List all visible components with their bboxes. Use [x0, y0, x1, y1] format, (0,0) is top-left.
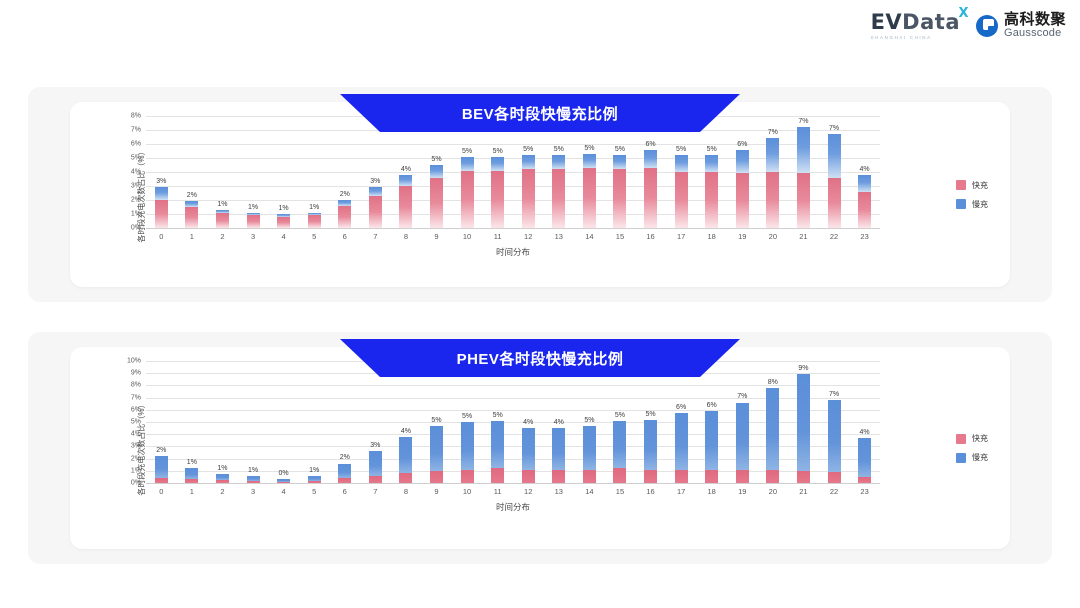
bar-value-label: 5% [584, 417, 594, 424]
stacked-bar[interactable]: 2% [155, 456, 168, 483]
bar-segment-slow-charge [705, 411, 718, 470]
bar-segment-fast-charge [613, 468, 626, 483]
bar-column[interactable]: 6% [635, 116, 666, 228]
bar-segment-slow-charge [858, 175, 871, 192]
stacked-bar[interactable]: 2% [185, 201, 198, 228]
y-axis-tick: 9% [131, 370, 141, 377]
x-axis-tick: 17 [666, 229, 697, 245]
bar-value-label: 5% [554, 146, 564, 153]
bar-segment-fast-charge [338, 206, 351, 228]
x-axis-tick: 0 [146, 229, 177, 245]
bar-segment-fast-charge [797, 173, 810, 228]
bar-value-label: 5% [431, 156, 441, 163]
stacked-bar[interactable]: 5% [430, 426, 443, 483]
bar-column[interactable]: 1% [299, 361, 330, 483]
bar-segment-fast-charge [736, 173, 749, 228]
x-axis-tick: 7 [360, 484, 391, 500]
x-axis-tick: 1 [177, 229, 208, 245]
x-axis-tick: 5 [299, 229, 330, 245]
bar-value-label: 9% [798, 365, 808, 372]
bev-x-axis-label: 时间分布 [146, 246, 880, 258]
bar-segment-slow-charge [399, 437, 412, 474]
bar-segment-fast-charge [461, 171, 474, 228]
stacked-bar[interactable]: 2% [338, 463, 351, 483]
bar-value-label: 7% [768, 129, 778, 136]
y-axis-tick: 1% [131, 211, 141, 218]
y-axis-tick: 7% [131, 127, 141, 134]
bar-segment-fast-charge [675, 172, 688, 228]
y-axis-tick: 10% [127, 358, 141, 365]
gausscode-text: 高科数聚 Gausscode [1004, 12, 1066, 39]
bar-column[interactable]: 1% [238, 116, 269, 228]
bar-column[interactable]: 1% [207, 116, 238, 228]
bar-segment-slow-charge [430, 165, 443, 178]
stacked-bar[interactable]: 5% [675, 155, 688, 228]
bar-segment-fast-charge [675, 470, 688, 483]
x-axis-tick: 20 [758, 484, 789, 500]
phev-x-axis-label: 时间分布 [146, 501, 880, 513]
bar-column[interactable]: 3% [146, 116, 177, 228]
x-axis-tick: 13 [544, 484, 575, 500]
gausscode-en-name: Gausscode [1004, 28, 1066, 40]
bar-column[interactable]: 7% [788, 116, 819, 228]
phev-x-axis: 01234567891011121314151617181920212223 [146, 483, 880, 500]
bar-column[interactable]: 2% [329, 116, 360, 228]
bar-column[interactable]: 5% [605, 361, 636, 483]
x-axis-tick: 21 [788, 229, 819, 245]
bar-segment-slow-charge [613, 155, 626, 169]
stacked-bar[interactable]: 5% [491, 421, 504, 483]
bar-segment-slow-charge [430, 426, 443, 471]
stacked-bar[interactable]: 6% [644, 150, 657, 228]
bar-segment-fast-charge [430, 178, 443, 228]
slow-charge-swatch-icon [956, 199, 966, 209]
bar-segment-fast-charge [247, 215, 260, 228]
bar-column[interactable]: 2% [146, 361, 177, 483]
bar-value-label: 5% [676, 146, 686, 153]
slow-charge-swatch-icon [956, 453, 966, 463]
bev-x-axis: 01234567891011121314151617181920212223 [146, 228, 880, 245]
bar-column[interactable]: 2% [329, 361, 360, 483]
stacked-bar[interactable]: 7% [797, 127, 810, 228]
phev-card: PHEV各时段快慢充比例 各时段充电次数占比（%） 0%1%2%3%4%5%6%… [70, 347, 1010, 549]
bar-value-label: 6% [645, 141, 655, 148]
bar-segment-fast-charge [766, 470, 779, 483]
bev-title-text: BEV各时段快慢充比例 [462, 103, 618, 124]
stacked-bar[interactable]: 6% [675, 413, 688, 483]
x-axis-tick: 2 [207, 229, 238, 245]
phev-panel: PHEV各时段快慢充比例 各时段充电次数占比（%） 0%1%2%3%4%5%6%… [28, 332, 1052, 564]
stacked-bar[interactable]: 4% [552, 428, 565, 483]
x-axis-tick: 11 [482, 484, 513, 500]
stacked-bar[interactable]: 1% [247, 213, 260, 228]
bar-column[interactable]: 6% [696, 361, 727, 483]
stacked-bar[interactable]: 4% [399, 437, 412, 483]
x-axis-tick: 8 [391, 484, 422, 500]
bar-segment-fast-charge [369, 196, 382, 228]
bev-bars: 3%2%1%1%1%1%2%3%4%5%5%5%5%5%5%5%6%5%5%6%… [146, 116, 880, 228]
bar-segment-slow-charge [613, 421, 626, 469]
x-axis-tick: 16 [635, 229, 666, 245]
bev-legend-slow-label: 慢充 [972, 199, 988, 210]
bar-column[interactable]: 4% [849, 361, 880, 483]
stacked-bar[interactable]: 4% [858, 438, 871, 483]
stacked-bar[interactable]: 5% [430, 165, 443, 228]
x-axis-tick: 0 [146, 484, 177, 500]
bar-segment-fast-charge [613, 169, 626, 228]
gausscode-cn-name: 高科数聚 [1004, 12, 1066, 28]
bar-segment-fast-charge [461, 470, 474, 483]
bar-segment-slow-charge [766, 138, 779, 172]
bar-value-label: 7% [829, 391, 839, 398]
bar-value-label: 8% [768, 379, 778, 386]
bar-segment-slow-charge [552, 428, 565, 469]
bar-segment-slow-charge [552, 155, 565, 169]
bar-segment-fast-charge [369, 476, 382, 483]
bar-column[interactable]: 1% [207, 361, 238, 483]
bar-value-label: 5% [493, 148, 503, 155]
x-axis-tick: 23 [849, 484, 880, 500]
evdata-x-icon: X [958, 7, 969, 20]
bev-legend-item-slow: 慢充 [956, 199, 988, 210]
stacked-bar[interactable]: 6% [736, 150, 749, 228]
bar-segment-slow-charge [522, 428, 535, 469]
x-axis-tick: 1 [177, 484, 208, 500]
y-axis-tick: 8% [131, 382, 141, 389]
bar-value-label: 5% [615, 146, 625, 153]
bar-value-label: 3% [370, 178, 380, 185]
bar-segment-slow-charge [338, 464, 351, 479]
bar-value-label: 1% [248, 204, 258, 211]
bar-segment-slow-charge [399, 175, 412, 186]
bar-segment-fast-charge [797, 471, 810, 483]
bev-title-banner: BEV各时段快慢充比例 [340, 94, 740, 132]
bar-segment-slow-charge [155, 187, 168, 200]
evdata-data-text: Data [902, 10, 960, 34]
x-axis-tick: 4 [268, 484, 299, 500]
bev-plot-area: 0%1%2%3%4%5%6%7%8% 3%2%1%1%1%1%2%3%4%5%5… [146, 116, 880, 228]
x-axis-tick: 18 [696, 484, 727, 500]
bar-column[interactable]: 1% [177, 361, 208, 483]
fast-charge-swatch-icon [956, 180, 966, 190]
stacked-bar[interactable]: 5% [461, 157, 474, 228]
bar-segment-slow-charge [797, 374, 810, 470]
bar-segment-fast-charge [430, 471, 443, 483]
bar-value-label: 2% [156, 447, 166, 454]
bar-column[interactable]: 5% [482, 361, 513, 483]
bar-column[interactable]: 5% [574, 116, 605, 228]
bar-segment-fast-charge [583, 168, 596, 228]
bar-segment-fast-charge [828, 472, 841, 483]
bar-segment-slow-charge [369, 451, 382, 475]
bar-segment-fast-charge [216, 213, 229, 228]
phev-legend-item-fast: 快充 [956, 433, 988, 444]
bar-segment-slow-charge [461, 422, 474, 470]
bar-segment-slow-charge [675, 413, 688, 469]
bar-value-label: 3% [370, 442, 380, 449]
bar-segment-fast-charge [705, 172, 718, 228]
bar-column[interactable]: 5% [452, 116, 483, 228]
bar-segment-fast-charge [552, 169, 565, 228]
bar-value-label: 5% [431, 417, 441, 424]
x-axis-tick: 11 [482, 229, 513, 245]
bar-segment-slow-charge [491, 157, 504, 171]
bar-column[interactable]: 8% [758, 361, 789, 483]
bar-value-label: 1% [309, 204, 319, 211]
stacked-bar[interactable]: 7% [766, 138, 779, 228]
bar-value-label: 4% [860, 429, 870, 436]
y-axis-tick: 0% [131, 480, 141, 487]
stacked-bar[interactable]: 1% [277, 214, 290, 228]
phev-legend: 快充 慢充 [956, 433, 988, 463]
bar-column[interactable]: 1% [299, 116, 330, 228]
x-axis-tick: 10 [452, 484, 483, 500]
bar-column[interactable]: 0% [268, 361, 299, 483]
gausscode-logo: 高科数聚 Gausscode [976, 12, 1066, 39]
evdata-logo: EVData X SHANGHAI CHINA [871, 12, 960, 40]
bar-value-label: 5% [523, 146, 533, 153]
bar-column[interactable]: 5% [421, 116, 452, 228]
x-axis-tick: 9 [421, 229, 452, 245]
stacked-bar[interactable]: 1% [308, 213, 321, 228]
bar-column[interactable]: 5% [421, 361, 452, 483]
y-axis-tick: 2% [131, 455, 141, 462]
bar-value-label: 7% [798, 118, 808, 125]
bar-value-label: 1% [279, 205, 289, 212]
stacked-bar[interactable]: 1% [216, 474, 229, 483]
bar-column[interactable]: 7% [819, 116, 850, 228]
bar-segment-fast-charge [185, 207, 198, 228]
phev-bars: 2%1%1%1%0%1%2%3%4%5%5%5%4%4%5%5%5%6%6%7%… [146, 361, 880, 483]
logo-group: EVData X SHANGHAI CHINA 高科数聚 Gausscode [871, 12, 1066, 40]
bev-card: BEV各时段快慢充比例 各时段充电次数占比（%） 0%1%2%3%4%5%6%7… [70, 102, 1010, 287]
stacked-bar[interactable]: 5% [644, 420, 657, 483]
bar-segment-fast-charge [399, 186, 412, 228]
bar-column[interactable]: 5% [605, 116, 636, 228]
y-axis-tick: 8% [131, 113, 141, 120]
bar-segment-fast-charge [491, 171, 504, 228]
bar-value-label: 6% [676, 404, 686, 411]
bar-segment-fast-charge [644, 470, 657, 483]
stacked-bar[interactable]: 7% [828, 400, 841, 483]
bar-segment-slow-charge [644, 150, 657, 168]
x-axis-tick: 19 [727, 484, 758, 500]
x-axis-tick: 2 [207, 484, 238, 500]
bar-segment-fast-charge [491, 468, 504, 483]
bar-segment-slow-charge [797, 127, 810, 173]
stacked-bar[interactable]: 3% [155, 187, 168, 228]
bar-value-label: 7% [737, 393, 747, 400]
bar-value-label: 5% [645, 411, 655, 418]
stacked-bar[interactable]: 3% [369, 187, 382, 228]
bar-segment-fast-charge [736, 470, 749, 483]
x-axis-tick: 6 [329, 229, 360, 245]
stacked-bar[interactable]: 5% [461, 422, 474, 483]
phev-title-text: PHEV各时段快慢充比例 [457, 348, 624, 369]
x-axis-tick: 15 [605, 484, 636, 500]
bar-segment-slow-charge [828, 400, 841, 472]
stacked-bar[interactable]: 1% [185, 468, 198, 483]
bar-column[interactable]: 2% [177, 116, 208, 228]
evdata-ev-text: EV [871, 10, 903, 34]
bar-value-label: 1% [187, 459, 197, 466]
bev-legend: 快充 慢充 [956, 180, 988, 210]
bar-value-label: 1% [217, 201, 227, 208]
bar-segment-slow-charge [705, 155, 718, 172]
bar-value-label: 5% [462, 148, 472, 155]
bar-segment-fast-charge [552, 470, 565, 483]
bar-column[interactable]: 4% [391, 361, 422, 483]
bar-value-label: 5% [615, 412, 625, 419]
bar-value-label: 2% [187, 192, 197, 199]
bar-segment-slow-charge [369, 187, 382, 195]
stacked-bar[interactable]: 2% [338, 200, 351, 228]
x-axis-tick: 12 [513, 229, 544, 245]
bar-column[interactable]: 5% [666, 116, 697, 228]
phev-legend-item-slow: 慢充 [956, 452, 988, 463]
bar-column[interactable]: 5% [696, 116, 727, 228]
bar-segment-fast-charge [705, 470, 718, 483]
x-axis-tick: 23 [849, 229, 880, 245]
bar-segment-slow-charge [583, 154, 596, 168]
bar-segment-slow-charge [583, 426, 596, 470]
bar-value-label: 5% [707, 146, 717, 153]
stacked-bar[interactable]: 7% [828, 134, 841, 228]
bar-value-label: 0% [279, 470, 289, 477]
bar-segment-fast-charge [644, 168, 657, 228]
bar-value-label: 6% [707, 402, 717, 409]
stacked-bar[interactable]: 1% [216, 210, 229, 228]
stacked-bar[interactable]: 5% [491, 157, 504, 228]
x-axis-tick: 21 [788, 484, 819, 500]
bar-column[interactable]: 5% [544, 116, 575, 228]
stacked-bar[interactable]: 5% [522, 155, 535, 228]
x-axis-tick: 7 [360, 229, 391, 245]
x-axis-tick: 14 [574, 484, 605, 500]
x-axis-tick: 9 [421, 484, 452, 500]
stacked-bar[interactable]: 4% [858, 175, 871, 228]
bar-column[interactable]: 1% [238, 361, 269, 483]
bar-segment-fast-charge [766, 172, 779, 228]
x-axis-tick: 6 [329, 484, 360, 500]
x-axis-tick: 3 [238, 484, 269, 500]
bar-column[interactable]: 6% [666, 361, 697, 483]
bar-segment-slow-charge [155, 456, 168, 478]
stacked-bar[interactable]: 5% [613, 155, 626, 228]
bar-segment-slow-charge [736, 150, 749, 174]
y-axis-tick: 5% [131, 155, 141, 162]
bar-segment-fast-charge [522, 470, 535, 483]
stacked-bar[interactable]: 5% [583, 426, 596, 483]
x-axis-tick: 17 [666, 484, 697, 500]
x-axis-tick: 8 [391, 229, 422, 245]
bar-column[interactable]: 7% [819, 361, 850, 483]
bar-segment-fast-charge [522, 169, 535, 228]
phev-plot-area: 0%1%2%3%4%5%6%7%8%9%10% 2%1%1%1%0%1%2%3%… [146, 361, 880, 483]
phev-title-banner: PHEV各时段快慢充比例 [340, 339, 740, 377]
stacked-bar[interactable]: 4% [399, 175, 412, 228]
stacked-bar[interactable]: 6% [705, 411, 718, 483]
bar-value-label: 1% [217, 465, 227, 472]
bar-value-label: 3% [156, 178, 166, 185]
bar-column[interactable]: 5% [452, 361, 483, 483]
evdata-tagline: SHANGHAI CHINA [871, 35, 932, 40]
bar-column[interactable]: 4% [391, 116, 422, 228]
bar-value-label: 4% [860, 166, 870, 173]
bar-column[interactable]: 5% [482, 116, 513, 228]
x-axis-tick: 22 [819, 484, 850, 500]
bar-value-label: 1% [248, 467, 258, 474]
bar-column[interactable]: 6% [727, 116, 758, 228]
stacked-bar[interactable]: 1% [308, 476, 321, 483]
stacked-bar[interactable]: 3% [369, 451, 382, 483]
bar-segment-slow-charge [461, 157, 474, 171]
bar-column[interactable]: 5% [513, 116, 544, 228]
bar-segment-fast-charge [399, 473, 412, 483]
stacked-bar[interactable]: 5% [613, 421, 626, 483]
bar-value-label: 4% [554, 419, 564, 426]
bar-value-label: 4% [523, 419, 533, 426]
bar-column[interactable]: 7% [758, 116, 789, 228]
bar-segment-fast-charge [828, 178, 841, 228]
x-axis-tick: 12 [513, 484, 544, 500]
y-axis-tick: 5% [131, 419, 141, 426]
x-axis-tick: 3 [238, 229, 269, 245]
stacked-bar[interactable]: 4% [522, 428, 535, 483]
bar-column[interactable]: 4% [849, 116, 880, 228]
bar-segment-fast-charge [308, 215, 321, 228]
bar-column[interactable]: 7% [727, 361, 758, 483]
bev-panel: BEV各时段快慢充比例 各时段充电次数占比（%） 0%1%2%3%4%5%6%7… [28, 87, 1052, 302]
stacked-bar[interactable]: 9% [797, 374, 810, 483]
bar-segment-slow-charge [644, 420, 657, 470]
y-axis-tick: 1% [131, 467, 141, 474]
stacked-bar[interactable]: 1% [247, 476, 260, 483]
bar-column[interactable]: 4% [544, 361, 575, 483]
bev-legend-fast-label: 快充 [972, 180, 988, 191]
x-axis-tick: 22 [819, 229, 850, 245]
y-axis-tick: 4% [131, 431, 141, 438]
evdata-wordmark: EVData X [871, 12, 960, 33]
bar-segment-slow-charge [736, 403, 749, 470]
bar-value-label: 5% [584, 145, 594, 152]
stacked-bar[interactable]: 5% [705, 155, 718, 228]
x-axis-tick: 20 [758, 229, 789, 245]
bar-value-label: 2% [340, 454, 350, 461]
bar-segment-slow-charge [675, 155, 688, 172]
phev-legend-slow-label: 慢充 [972, 452, 988, 463]
y-axis-tick: 4% [131, 169, 141, 176]
stacked-bar[interactable]: 5% [552, 155, 565, 228]
bar-column[interactable]: 3% [360, 361, 391, 483]
y-axis-tick: 3% [131, 183, 141, 190]
bar-column[interactable]: 4% [513, 361, 544, 483]
x-axis-tick: 4 [268, 229, 299, 245]
y-axis-tick: 7% [131, 394, 141, 401]
y-axis-tick: 6% [131, 141, 141, 148]
bar-column[interactable]: 3% [360, 116, 391, 228]
y-axis-tick: 3% [131, 443, 141, 450]
stacked-bar[interactable]: 7% [736, 402, 749, 483]
page-header: EVData X SHANGHAI CHINA 高科数聚 Gausscode [0, 0, 1080, 58]
bar-column[interactable]: 9% [788, 361, 819, 483]
bar-column[interactable]: 1% [268, 116, 299, 228]
x-axis-tick: 10 [452, 229, 483, 245]
bar-column[interactable]: 5% [574, 361, 605, 483]
bar-column[interactable]: 5% [635, 361, 666, 483]
stacked-bar[interactable]: 8% [766, 388, 779, 483]
stacked-bar[interactable]: 5% [583, 154, 596, 228]
